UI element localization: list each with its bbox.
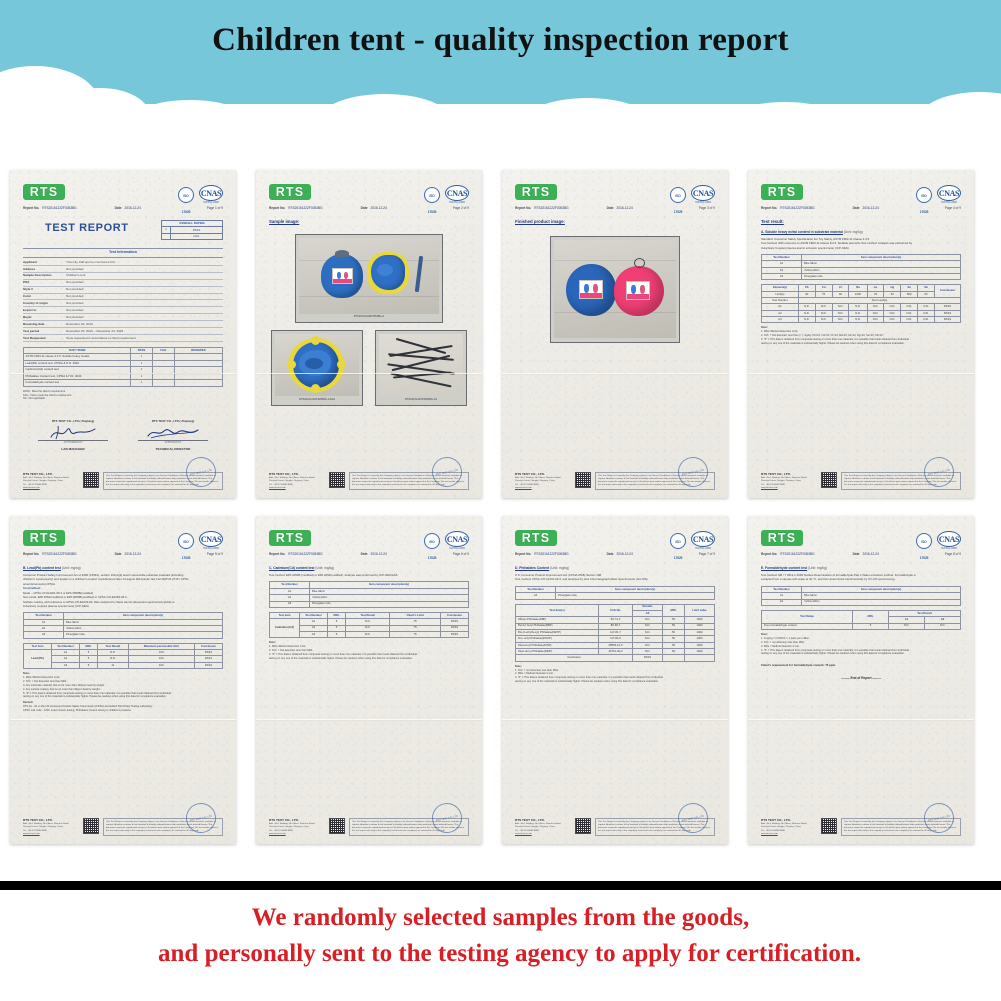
end-of-report: -------- End of Report --------: [761, 676, 961, 681]
iso-stamp-icon: ISO 17025: [670, 187, 686, 203]
table-row: A3Fiberglass tube: [516, 593, 715, 599]
info-row: Test period:December 20, 2016 -- Decembe…: [23, 328, 223, 335]
sample-photo-main: RTS2016122ZF3053BG-A: [295, 234, 443, 324]
iso-stamp-icon: ISO 17025: [424, 187, 440, 203]
table-row: A3 N.D.N.D. N.D.N.D. N.D.N.D. N.D.N.D. P…: [762, 317, 961, 323]
disclaimer-text: This Test Report is issued by the Compan…: [349, 818, 469, 835]
cadmium-results-table: Test item Test Number MDL Test Result Cl…: [269, 612, 469, 638]
report-title: TEST REPORT: [45, 220, 129, 237]
report-page-2[interactable]: RTS ISO 17025 CNAS TESTING L0805 Report …: [256, 170, 482, 498]
cloud-decoration: [0, 58, 1001, 140]
photo-caption: RTS2016122ZF3053BG-A3: [379, 396, 463, 402]
doc-header: RTS ISO 17025 CNAS TESTING L0805: [515, 530, 715, 549]
doc-footer: RTS TEST CO., LTD. Add : No.1 Building, …: [515, 472, 715, 490]
doc-meta: Report No. RTS2016122ZF3053BG Date 2016-…: [269, 552, 469, 557]
qr-code-icon: [821, 818, 837, 834]
page-number: Page 3 of 9: [699, 206, 715, 211]
client-requirement: Client's requirement for formaldehyde co…: [761, 663, 961, 667]
rts-logo: RTS: [23, 530, 65, 546]
doc-header: RTS ISO 17025 CNAS TESTING L0805: [23, 184, 223, 203]
accreditation-stamps: ISO 17025 CNAS TESTING L0805: [916, 530, 961, 551]
doc-header: RTS ISO 17025 CNAS TESTING L0805: [269, 184, 469, 203]
company-block: RTS TEST CO., LTD. Add : No.1 Building, …: [761, 818, 817, 836]
disclaimer-text: This Test Report is issued by the Compan…: [841, 818, 961, 835]
rts-logo: RTS: [515, 184, 557, 200]
doc-footer: RTS TEST CO., LTD. Add : No.1 Building, …: [515, 818, 715, 836]
accreditation-stamps: ISO 17025 CNAS TESTING L0805: [670, 184, 715, 205]
doc-meta: Report No. RTS2016122ZF3053BG Date 2016-…: [761, 552, 961, 557]
component-table: Test NumberItem component description(s)…: [23, 612, 223, 638]
test-items-table: TEST ITEMS PASS FAIL REMARKS ASTM F963-1…: [23, 347, 223, 387]
doc-header: RTS ISO 17025 CNAS TESTING L0805: [23, 530, 223, 549]
table-row: Free formaldehyde content 5 N.D. N.D.: [762, 623, 961, 629]
cnas-stamp-icon: CNAS TESTING L0805: [199, 185, 223, 205]
qr-code-icon: [575, 818, 591, 834]
component-table: Test NumberItem component description(s)…: [761, 254, 961, 280]
doc-meta: Report No. RTS2016122ZF3053BG Date 2016-…: [23, 552, 223, 557]
page-number: Page 7 of 9: [699, 552, 715, 557]
method-text: Test method: GB / T 2912.1-2009 Textiles…: [761, 573, 961, 582]
iso-stamp-icon: ISO 17025: [178, 187, 194, 203]
product-photo: [550, 236, 680, 344]
disclaimer-text: This Test Report is issued by the Compan…: [841, 472, 961, 489]
rts-logo: RTS: [515, 530, 557, 546]
sample-photo-poles: RTS2016122ZF3053BG-A3: [375, 330, 467, 406]
qr-code-icon: [83, 472, 99, 488]
table-row: A35 11100 PASS: [24, 662, 223, 668]
section-title: Test result:: [761, 219, 961, 226]
signature-block-lab-manager: RTS TEST CO., LTD.( Zhejiang) AUTHORIZED…: [30, 419, 116, 452]
doc-meta: Report No. RTS2016122ZF3053BG Date 2016-…: [515, 552, 715, 557]
section-title: Sample image:: [269, 219, 469, 226]
component-table: Test NumberItem component description(s)…: [269, 581, 469, 607]
doc-header: RTS ISO 17025 CNAS TESTING L0805: [761, 530, 961, 549]
iso-stamp-icon: ISO 17025: [916, 187, 932, 203]
photo-tent-round: [275, 334, 359, 396]
table-row: A3Fiberglass tube: [270, 601, 469, 607]
info-row: PO#:Not provided: [23, 280, 223, 287]
table-row: A35 N.D.75 PASS: [270, 631, 469, 637]
accreditation-stamps: ISO 17025 CNAS TESTING L0805: [178, 530, 223, 551]
cnas-stamp-icon: CNAS TESTING L0805: [691, 531, 715, 551]
signature-block-technical-director: RTS TEST CO., LTD.( Zhejiang) APPROVED B…: [130, 419, 216, 452]
tagline-line-2: and personally sent to the testing agenc…: [0, 936, 1001, 972]
table-row: A2Yellow fabric: [762, 599, 961, 605]
photo-poles: [379, 334, 463, 396]
info-row: Export to:Not provided: [23, 307, 223, 314]
method-text: U.S. Consumer Product Improvement Act (C…: [515, 573, 715, 582]
photo-caption: RTS2016122ZF3053BG-A1/A2: [275, 396, 359, 402]
signature-ink: [30, 423, 116, 440]
report-page-5[interactable]: RTS ISO 17025 CNAS TESTING L0805 Report …: [10, 516, 236, 844]
legend-notes: PASS : Meet the client's requirement FAI…: [23, 390, 223, 402]
cnas-stamp-icon: CNAS TESTING L0805: [691, 185, 715, 205]
phthalates-results-table: Test Item(s) CAS No. Results MDL Limit v…: [515, 604, 715, 662]
page-banner: Children tent - quality inspection repor…: [0, 0, 1001, 140]
iso-stamp-icon: ISO 17025: [670, 533, 686, 549]
info-row: Color:Not provided: [23, 294, 223, 301]
report-page-7[interactable]: RTS ISO 17025 CNAS TESTING L0805 Report …: [502, 516, 728, 844]
rts-logo: RTS: [761, 184, 803, 200]
test-information-band: Test Information: [23, 248, 223, 258]
subsection-title: D. Phthalates Content (Unit: mg/kg): [515, 566, 715, 571]
tagline-line-1: We randomly selected samples from the go…: [0, 900, 1001, 936]
accreditation-stamps: ISO 17025 CNAS TESTING L0805: [424, 184, 469, 205]
iso-stamp-icon: ISO 17025: [916, 533, 932, 549]
subsection-title: E. Formaldehyde content test (Unit: mg/k…: [761, 566, 961, 571]
report-page-1[interactable]: RTS ISO 17025 CNAS TESTING L0805 Report …: [10, 170, 236, 498]
doc-header: RTS ISO 17025 CNAS TESTING L0805: [515, 184, 715, 203]
info-row: Style #:Not provided: [23, 287, 223, 294]
doc-footer: RTS TEST CO., LTD. Add : No.1 Building, …: [761, 472, 961, 490]
accreditation-stamps: ISO 17025 CNAS TESTING L0805: [670, 530, 715, 551]
cnas-stamp-icon: CNAS TESTING L0805: [199, 531, 223, 551]
accreditation-stamps: ISO 17025 CNAS TESTING L0805: [916, 184, 961, 205]
doc-header: RTS ISO 17025 CNAS TESTING L0805: [761, 184, 961, 203]
photo-pouch-pair: [554, 240, 676, 338]
component-table: Test NumberItem component description(s)…: [761, 586, 961, 606]
photo-tent-set: [299, 238, 439, 314]
notes: Note: 1. 1mg/kg = 0.0001% = 1 parts per …: [761, 633, 961, 656]
method-text: Standard: Consumer Safety Specification …: [761, 237, 961, 250]
table-row: ConclusionPASS: [516, 655, 715, 661]
notes: Note: 1. MDL=Method Detection Limit. 2. …: [761, 326, 961, 345]
report-page-8[interactable]: RTS ISO 17025 CNAS TESTING L0805 Report …: [748, 516, 974, 844]
doc-meta: Report No. RTS2016122ZF3053BG Date 2016-…: [23, 206, 223, 211]
info-row: Test Requested:Tests requested in accord…: [23, 335, 223, 342]
table-row: A3Fiberglass tube: [24, 632, 223, 638]
page-number: Page 6 of 9: [453, 552, 469, 557]
company-block: RTS TEST CO., LTD. Add : No.1 Building, …: [269, 818, 325, 836]
disclaimer-text: This Test Report is issued by the Compan…: [595, 818, 715, 835]
iso-stamp-icon: ISO 17025: [178, 533, 194, 549]
signature-area: RTS TEST CO., LTD.( Zhejiang) AUTHORIZED…: [23, 419, 223, 452]
company-block: RTS TEST CO., LTD. Add : No.1 Building, …: [269, 472, 325, 490]
cnas-stamp-icon: CNAS TESTING L0805: [937, 185, 961, 205]
company-block: RTS TEST CO., LTD. Add : No.1 Building, …: [23, 472, 79, 490]
page-number: Page 2 of 9: [453, 206, 469, 211]
notes: Note: 1. N.D. = not detected, less than …: [515, 665, 715, 684]
doc-footer: RTS TEST CO., LTD. Add : No.1 Building, …: [269, 472, 469, 490]
subsection-title: A. Soluble heavy metal content in substr…: [761, 230, 961, 235]
doc-meta: Report No. RTS2016122ZF3053BG Date 2016-…: [269, 206, 469, 211]
doc-header: RTS ISO 17025 CNAS TESTING L0805: [269, 530, 469, 549]
formaldehyde-results-table: Test Name MDL Test Result A1 A2 Free for…: [761, 610, 961, 630]
rts-logo: RTS: [269, 530, 311, 546]
element-results-table: Element(s) Pb Cd Cr Ba As Hg Se Sb Concl…: [761, 284, 961, 323]
disclaimer-text: This Test Report is issued by the Compan…: [103, 818, 223, 835]
doc-meta: Report No. RTS2016122ZF3053BG Date 2016-…: [761, 206, 961, 211]
qr-code-icon: [821, 472, 837, 488]
company-block: RTS TEST CO., LTD. Add : No.1 Building, …: [515, 472, 571, 490]
cnas-stamp-icon: CNAS TESTING L0805: [445, 185, 469, 205]
report-page-4[interactable]: RTS ISO 17025 CNAS TESTING L0805 Report …: [748, 170, 974, 498]
table-row: Formaldehyde content test×: [24, 380, 223, 386]
doc-footer: RTS TEST CO., LTD. Add : No.1 Building, …: [23, 472, 223, 490]
page-title: Children tent - quality inspection repor…: [0, 22, 1001, 59]
notes: Note: 1. MDL=Method Detection Limit. 2. …: [269, 641, 469, 660]
rts-logo: RTS: [269, 184, 311, 200]
photo-caption: [554, 338, 676, 340]
iso-stamp-icon: ISO 17025: [424, 533, 440, 549]
qr-code-icon: [329, 818, 345, 834]
cnas-stamp-icon: CNAS TESTING L0805: [937, 531, 961, 551]
info-row: Receiving date:December 20, 2016: [23, 321, 223, 328]
doc-footer: RTS TEST CO., LTD. Add : No.1 Building, …: [269, 818, 469, 836]
method-text: Test method: EPA 3052B (modified) or EPA…: [269, 573, 469, 577]
page-number: Page 1 of 9: [207, 206, 223, 211]
report-page-6[interactable]: RTS ISO 17025 CNAS TESTING L0805 Report …: [256, 516, 482, 844]
test-information-list: Applicant:Yiwu city Jiali sport e-commer…: [23, 259, 223, 342]
company-block: RTS TEST CO., LTD. Add : No.1 Building, …: [23, 818, 79, 836]
notes: Note: 1. MDL=Method Detection Limit. 2. …: [23, 672, 223, 713]
disclaimer-text: This Test Report is issued by the Compan…: [349, 472, 469, 489]
doc-footer: RTS TEST CO., LTD. Add : No.1 Building, …: [23, 818, 223, 836]
doc-footer: RTS TEST CO., LTD. Add : No.1 Building, …: [761, 818, 961, 836]
doc-meta: Report No. RTS2016122ZF3053BG Date 2016-…: [515, 206, 715, 211]
method-text: Consumer Product Safety Improvement Act …: [23, 573, 223, 608]
table-row: A3Fiberglass tube: [762, 273, 961, 279]
info-row: Applicant:Yiwu city Jiali sport e-commer…: [23, 259, 223, 266]
info-row: Sample Description:Children's tent: [23, 273, 223, 280]
qr-code-icon: [329, 472, 345, 488]
component-table: Test NumberItem component description(s)…: [515, 586, 715, 600]
report-pages-grid: RTS ISO 17025 CNAS TESTING L0805 Report …: [10, 170, 991, 844]
accreditation-stamps: ISO 17025 CNAS TESTING L0805: [178, 184, 223, 205]
disclaimer-text: This Test Report is issued by the Compan…: [103, 472, 223, 489]
info-row: Address:Not provided: [23, 266, 223, 273]
signature-ink: [130, 423, 216, 440]
qr-code-icon: [83, 818, 99, 834]
report-page-3[interactable]: RTS ISO 17025 CNAS TESTING L0805 Report …: [502, 170, 728, 498]
qr-code-icon: [575, 472, 591, 488]
sample-photo-round: RTS2016122ZF3053BG-A1/A2: [271, 330, 363, 406]
company-block: RTS TEST CO., LTD. Add : No.1 Building, …: [515, 818, 571, 836]
company-block: RTS TEST CO., LTD. Add : No.1 Building, …: [761, 472, 817, 490]
photo-caption: RTS2016122ZF3053BG-A: [299, 314, 439, 320]
footer-tagline: We randomly selected samples from the go…: [0, 900, 1001, 973]
overall-rating-box: OVERALL RATING ×PASS FAIL: [161, 220, 223, 241]
accreditation-stamps: ISO 17025 CNAS TESTING L0805: [424, 530, 469, 551]
subsection-title: B. Lead(Pb) content test (Unit: mg/kg): [23, 566, 223, 571]
rts-logo: RTS: [761, 530, 803, 546]
divider-bar: [0, 881, 1001, 890]
subsection-title: C. Cadmium(Cd) content test (Unit: mg/kg…: [269, 566, 469, 571]
page-number: Page 5 of 9: [207, 552, 223, 557]
lead-results-table: Test item Test Number MDL Test Result Ma…: [23, 643, 223, 669]
info-row: Country of origin:Not provided: [23, 300, 223, 307]
info-row: Buyer:Not provided: [23, 314, 223, 321]
section-title: Finished product image:: [515, 219, 715, 226]
page-number: Page 4 of 9: [945, 206, 961, 211]
cnas-stamp-icon: CNAS TESTING L0805: [445, 531, 469, 551]
disclaimer-text: This Test Report is issued by the Compan…: [595, 472, 715, 489]
rts-logo: RTS: [23, 184, 65, 200]
page-number: Page 8 of 9: [945, 552, 961, 557]
